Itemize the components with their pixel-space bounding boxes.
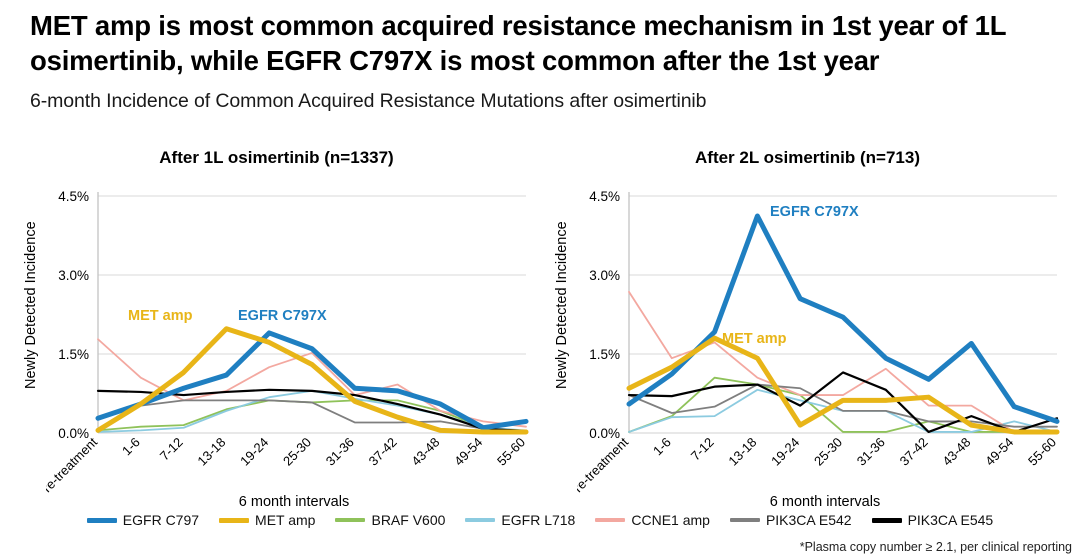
y-tick-label: 3.0% — [58, 268, 89, 283]
svg-text:1-6: 1-6 — [119, 435, 143, 459]
x-tick-label: 37-42 — [366, 435, 400, 469]
series-line-egfr-c797 — [98, 333, 526, 428]
svg-text:55-60: 55-60 — [1025, 435, 1059, 469]
series-annotation-met-amp: MET amp — [722, 331, 786, 347]
x-axis-label-left: 6 month intervals — [74, 494, 514, 510]
svg-text:7-12: 7-12 — [157, 435, 186, 464]
chart-panel-right: After 2L osimertinib (n=713) Newly Detec… — [545, 140, 1070, 520]
series-annotation-egfr-c797x: EGFR C797X — [770, 204, 859, 220]
svg-text:37-42: 37-42 — [366, 435, 400, 469]
svg-text:37-42: 37-42 — [897, 435, 931, 469]
svg-text:55-60: 55-60 — [494, 435, 528, 469]
x-tick-label: 43-48 — [408, 435, 442, 469]
x-tick-label: 7-12 — [157, 435, 186, 464]
y-tick-label: 1.5% — [58, 347, 89, 362]
svg-text:7-12: 7-12 — [688, 435, 717, 464]
x-tick-label: 31-36 — [854, 435, 888, 469]
legend-label: EGFR C797 — [123, 512, 199, 528]
slide-root: MET amp is most common acquired resistan… — [0, 0, 1080, 559]
legend-label: BRAF V600 — [371, 512, 445, 528]
legend-item[interactable]: PIK3CA E542 — [730, 512, 852, 528]
x-tick-label: Pre-treatment — [577, 434, 631, 501]
legend-item[interactable]: CCNE1 amp — [595, 512, 710, 528]
x-tick-label: 55-60 — [1025, 435, 1059, 469]
x-tick-label: 49-54 — [451, 435, 485, 469]
legend-item[interactable]: EGFR C797 — [87, 512, 199, 528]
legend-label: CCNE1 amp — [631, 512, 710, 528]
svg-text:31-36: 31-36 — [323, 435, 357, 469]
svg-text:49-54: 49-54 — [982, 435, 1016, 469]
legend-label: EGFR L718 — [501, 512, 575, 528]
svg-text:19-24: 19-24 — [237, 435, 271, 469]
legend-swatch-icon — [335, 518, 365, 522]
svg-text:Pre-treatment: Pre-treatment — [577, 434, 631, 501]
y-tick-label: 4.5% — [589, 189, 620, 204]
x-tick-label: 7-12 — [688, 435, 717, 464]
x-tick-label: 19-24 — [768, 435, 802, 469]
x-tick-label: 13-18 — [725, 435, 759, 469]
plot-area-left: 0.0%1.5%3.0%4.5%Pre-treatment1-67-1213-1… — [46, 180, 534, 510]
x-tick-label: 1-6 — [119, 435, 143, 459]
svg-text:49-54: 49-54 — [451, 435, 485, 469]
x-tick-label: 25-30 — [811, 435, 845, 469]
svg-text:1-6: 1-6 — [650, 435, 674, 459]
x-tick-label: 31-36 — [323, 435, 357, 469]
svg-text:13-18: 13-18 — [194, 435, 228, 469]
svg-text:31-36: 31-36 — [854, 435, 888, 469]
y-tick-label: 4.5% — [58, 189, 89, 204]
page-subtitle: 6-month Incidence of Common Acquired Res… — [30, 90, 1060, 113]
y-axis-label-right: Newly Detected Incidence — [551, 190, 573, 420]
legend-swatch-icon — [595, 518, 625, 522]
x-tick-label: 1-6 — [650, 435, 674, 459]
legend-item[interactable]: PIK3CA E545 — [872, 512, 994, 528]
legend-label: PIK3CA E542 — [766, 512, 852, 528]
legend-swatch-icon — [872, 518, 902, 523]
chart-panel-left: After 1L osimertinib (n=1337) Newly Dete… — [14, 140, 539, 520]
legend-item[interactable]: BRAF V600 — [335, 512, 445, 528]
x-tick-label: 25-30 — [280, 435, 314, 469]
line-chart-left: 0.0%1.5%3.0%4.5%Pre-treatment1-67-1213-1… — [46, 180, 534, 510]
legend-swatch-icon — [730, 518, 760, 522]
plot-area-right: 0.0%1.5%3.0%4.5%Pre-treatment1-67-1213-1… — [577, 180, 1065, 510]
x-tick-label: 19-24 — [237, 435, 271, 469]
legend-swatch-icon — [465, 518, 495, 522]
legend-item[interactable]: MET amp — [219, 512, 315, 528]
x-tick-label: 37-42 — [897, 435, 931, 469]
page-title: MET amp is most common acquired resistan… — [30, 8, 1060, 78]
legend-swatch-icon — [87, 518, 117, 523]
svg-text:Pre-treatment: Pre-treatment — [46, 434, 100, 501]
series-annotation-met-amp: MET amp — [128, 308, 192, 324]
svg-text:25-30: 25-30 — [280, 435, 314, 469]
svg-text:43-48: 43-48 — [939, 435, 973, 469]
legend-swatch-icon — [219, 518, 249, 523]
footnote: *Plasma copy number ≥ 2.1, per clinical … — [800, 540, 1072, 554]
series-annotation-egfr-c797x: EGFR C797X — [238, 308, 327, 324]
x-axis-label-right: 6 month intervals — [605, 494, 1045, 510]
legend-item[interactable]: EGFR L718 — [465, 512, 575, 528]
legend-label: MET amp — [255, 512, 315, 528]
svg-text:13-18: 13-18 — [725, 435, 759, 469]
x-tick-label: 43-48 — [939, 435, 973, 469]
y-axis-label-left: Newly Detected Incidence — [20, 190, 42, 420]
x-tick-label: 13-18 — [194, 435, 228, 469]
y-tick-label: 3.0% — [589, 268, 620, 283]
chart-title-left: After 1L osimertinib (n=1337) — [14, 148, 539, 168]
x-tick-label: 49-54 — [982, 435, 1016, 469]
line-chart-right: 0.0%1.5%3.0%4.5%Pre-treatment1-67-1213-1… — [577, 180, 1065, 510]
svg-text:43-48: 43-48 — [408, 435, 442, 469]
chart-legend: EGFR C797MET ampBRAF V600EGFR L718CCNE1 … — [0, 512, 1080, 528]
svg-text:25-30: 25-30 — [811, 435, 845, 469]
x-tick-label: 55-60 — [494, 435, 528, 469]
chart-title-right: After 2L osimertinib (n=713) — [545, 148, 1070, 168]
legend-label: PIK3CA E545 — [908, 512, 994, 528]
x-tick-label: Pre-treatment — [46, 434, 100, 501]
y-tick-label: 1.5% — [589, 347, 620, 362]
svg-text:19-24: 19-24 — [768, 435, 802, 469]
